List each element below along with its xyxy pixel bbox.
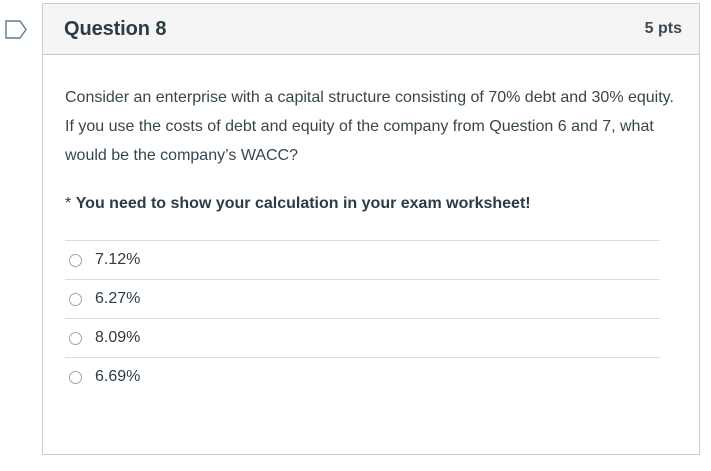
page-title: Question 8: [64, 18, 166, 41]
answer-option-2[interactable]: 6.27%: [65, 279, 660, 318]
question-text: Consider an enterprise with a capital st…: [65, 83, 675, 170]
question-points: 5 pts: [645, 20, 682, 38]
answer-option-3[interactable]: 8.09%: [65, 318, 660, 357]
question-note-text: You need to show your calculation in you…: [76, 195, 531, 212]
answer-option-label: 8.09%: [95, 329, 140, 347]
question-card: Question 8 5 pts Consider an enterprise …: [42, 3, 700, 455]
answer-option-label: 7.12%: [95, 251, 140, 269]
answer-option-4[interactable]: 6.69%: [65, 357, 660, 396]
radio-button-icon[interactable]: [69, 371, 82, 384]
answer-option-label: 6.27%: [95, 290, 140, 308]
radio-button-icon[interactable]: [69, 254, 82, 267]
answer-options-list: 7.12% 6.27% 8.09% 6.69%: [65, 240, 677, 396]
question-note: * You need to show your calculation in y…: [65, 192, 677, 216]
question-note-star: *: [65, 195, 71, 212]
radio-button-icon[interactable]: [69, 332, 82, 345]
question-body: Consider an enterprise with a capital st…: [43, 55, 699, 396]
answer-option-1[interactable]: 7.12%: [65, 240, 660, 279]
question-header: Question 8 5 pts: [43, 4, 699, 55]
radio-button-icon[interactable]: [69, 293, 82, 306]
flag-marker-icon[interactable]: [5, 20, 27, 39]
answer-option-label: 6.69%: [95, 368, 140, 386]
